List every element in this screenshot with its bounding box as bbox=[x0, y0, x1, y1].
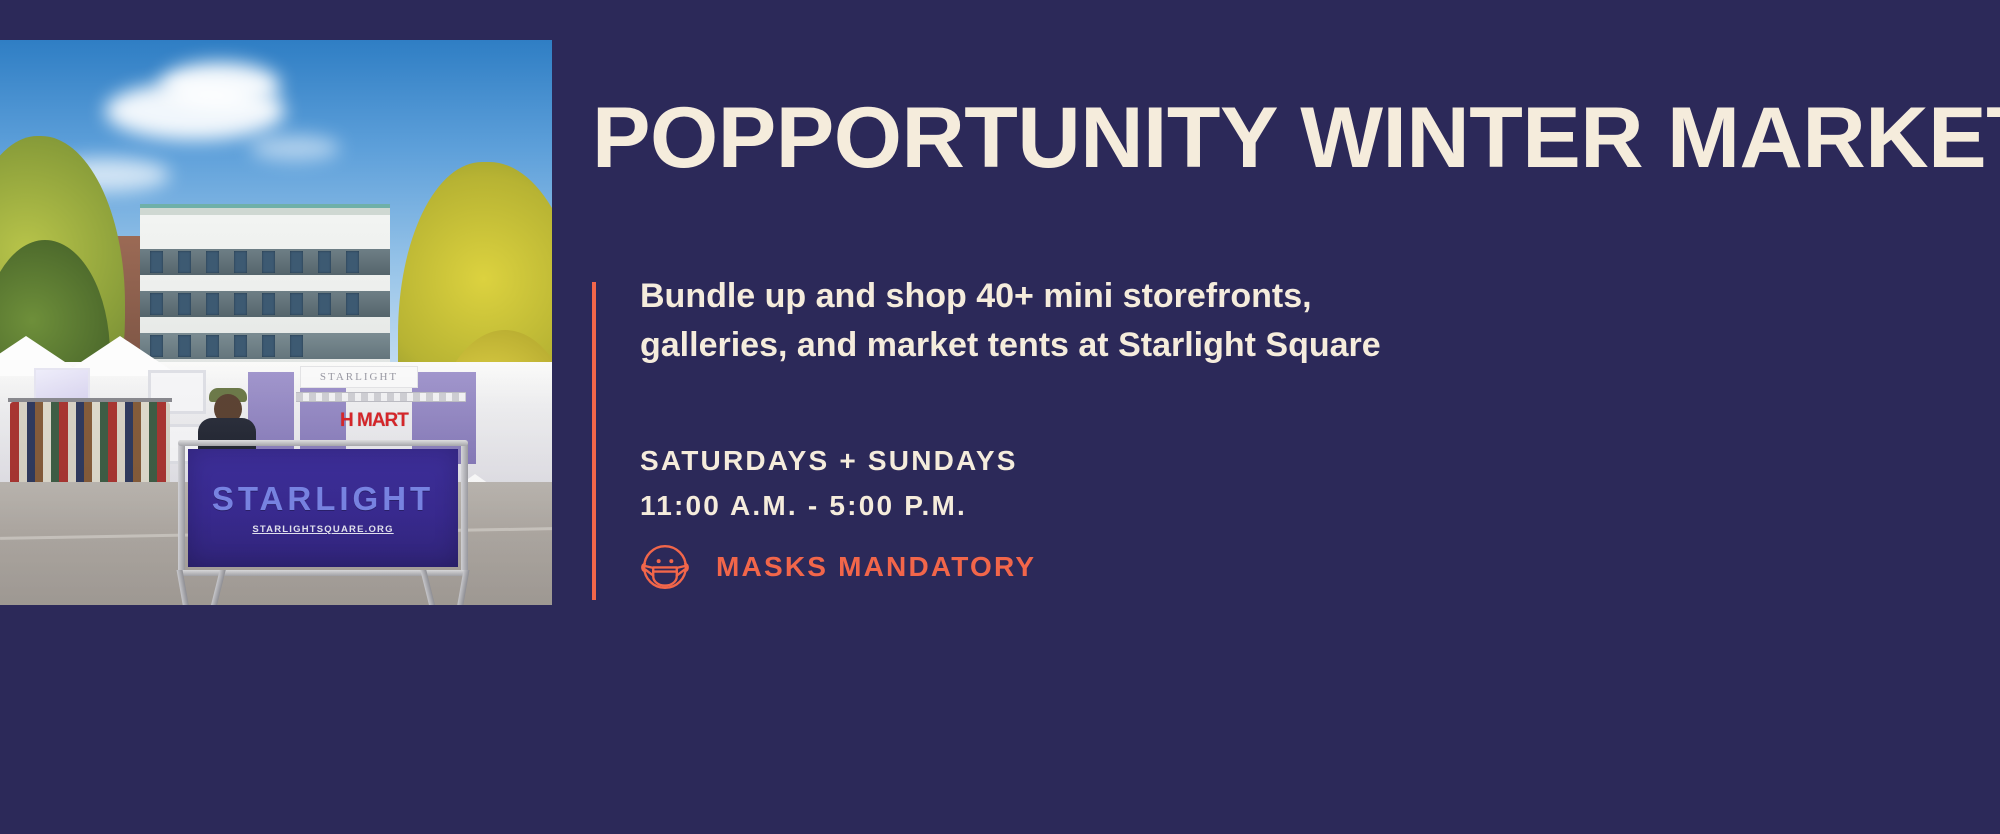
masked-face-icon bbox=[636, 538, 694, 596]
masks-mandatory-label: MASKS MANDATORY bbox=[716, 551, 1036, 583]
cloud bbox=[160, 62, 280, 108]
event-promo-banner: STARLIGHT H MART STARLIGHT STARLIGH bbox=[0, 0, 2000, 834]
starlight-sign: STARLIGHT bbox=[300, 366, 418, 388]
building-window-band bbox=[140, 291, 390, 317]
barricade-rail bbox=[178, 440, 468, 446]
cloud bbox=[250, 135, 340, 161]
subheading-line-2: galleries, and market tents at Starlight… bbox=[640, 321, 1520, 370]
barricade: STARLIGHT STARLIGHTSQUARE.ORG bbox=[178, 440, 468, 605]
accent-rule bbox=[592, 282, 596, 600]
barricade-post bbox=[178, 440, 185, 576]
starlight-banner-title: STARLIGHT bbox=[212, 482, 434, 515]
subheading: Bundle up and shop 40+ mini storefronts,… bbox=[640, 272, 1520, 371]
overhead-truss bbox=[296, 392, 466, 402]
apartment-building bbox=[140, 208, 390, 368]
page-title: POPPORTUNITY WINTER MARKET bbox=[592, 98, 2000, 180]
banner-content: POPPORTUNITY WINTER MARKET Bundle up and… bbox=[592, 0, 2000, 834]
schedule-days: SATURDAYS + SUNDAYS bbox=[640, 438, 1018, 483]
market-photo: STARLIGHT H MART STARLIGHT STARLIGH bbox=[0, 40, 552, 605]
starlight-banner-url: STARLIGHTSQUARE.ORG bbox=[252, 524, 393, 535]
hmart-store-sign: H MART bbox=[340, 410, 408, 432]
subheading-line-1: Bundle up and shop 40+ mini storefronts, bbox=[640, 272, 1520, 321]
building-window-band bbox=[140, 333, 390, 359]
masks-notice: MASKS MANDATORY bbox=[636, 538, 1036, 596]
building-window-band bbox=[140, 249, 390, 275]
starlight-vinyl-banner: STARLIGHT STARLIGHTSQUARE.ORG bbox=[188, 449, 458, 567]
barricade-post bbox=[461, 440, 468, 576]
photo-scene: STARLIGHT H MART STARLIGHT STARLIGH bbox=[0, 40, 552, 605]
schedule-hours: 11:00 A.M. - 5:00 P.M. bbox=[640, 483, 1018, 528]
schedule-block: SATURDAYS + SUNDAYS 11:00 A.M. - 5:00 P.… bbox=[640, 438, 1018, 529]
